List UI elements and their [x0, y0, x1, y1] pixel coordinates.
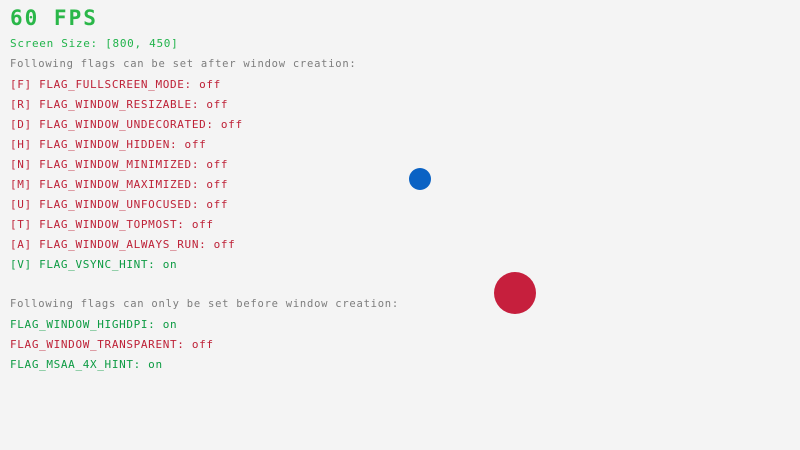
flag-flag-window-transparent: FLAG_WINDOW_TRANSPARENT: off [10, 339, 214, 350]
flag-flag-window-always-run[interactable]: [A] FLAG_WINDOW_ALWAYS_RUN: off [10, 239, 235, 250]
flag-flag-window-highdpi: FLAG_WINDOW_HIGHDPI: on [10, 319, 177, 330]
startup-flags-header: Following flags can only be set before w… [10, 299, 399, 310]
flag-flag-window-resizable[interactable]: [R] FLAG_WINDOW_RESIZABLE: off [10, 99, 228, 110]
runtime-flags-header: Following flags can be set after window … [10, 59, 357, 70]
flag-flag-fullscreen-mode[interactable]: [F] FLAG_FULLSCREEN_MODE: off [10, 79, 221, 90]
flag-flag-window-maximized[interactable]: [M] FLAG_WINDOW_MAXIMIZED: off [10, 179, 228, 190]
fps-counter: 60 FPS [10, 8, 98, 29]
red-ball-shape [494, 272, 536, 314]
flag-flag-window-minimized[interactable]: [N] FLAG_WINDOW_MINIMIZED: off [10, 159, 228, 170]
screen-size-label: Screen Size: [800, 450] [10, 38, 178, 49]
flag-flag-window-topmost[interactable]: [T] FLAG_WINDOW_TOPMOST: off [10, 219, 214, 230]
blue-ball-shape [409, 168, 431, 190]
flag-flag-window-hidden[interactable]: [H] FLAG_WINDOW_HIDDEN: off [10, 139, 206, 150]
flag-flag-msaa-4x-hint: FLAG_MSAA_4X_HINT: on [10, 359, 163, 370]
flag-flag-window-undecorated[interactable]: [D] FLAG_WINDOW_UNDECORATED: off [10, 119, 243, 130]
flag-flag-vsync-hint[interactable]: [V] FLAG_VSYNC_HINT: on [10, 259, 177, 270]
flag-flag-window-unfocused[interactable]: [U] FLAG_WINDOW_UNFOCUSED: off [10, 199, 228, 210]
app-window: 60 FPS Screen Size: [800, 450] Following… [0, 0, 800, 450]
